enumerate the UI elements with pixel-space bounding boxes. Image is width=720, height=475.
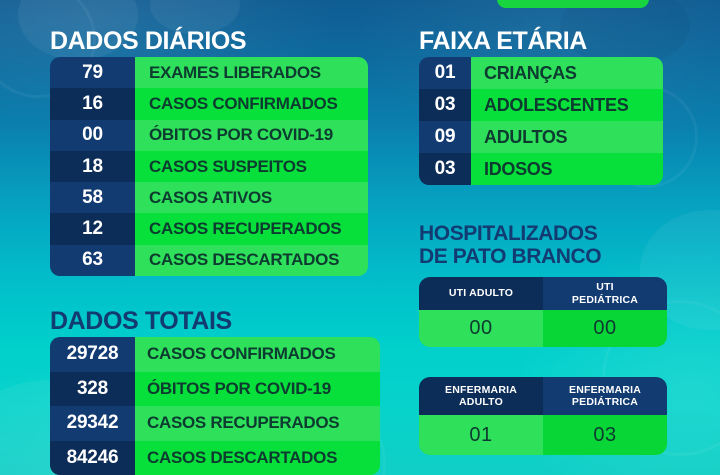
daily-label: ÓBITOS POR COVID-19 [135, 120, 368, 151]
hospital-cell-uti-adulto: UTI ADULTO 00 [419, 277, 543, 347]
total-value: 29342 [50, 406, 135, 441]
section-title-totals: DADOS TOTAIS [50, 309, 232, 335]
daily-label: CASOS SUSPEITOS [135, 151, 368, 182]
age-label: CRIANÇAS [471, 57, 663, 89]
table-row: 12 CASOS RECUPERADOS [50, 213, 368, 244]
table-row: 58 CASOS ATIVOS [50, 182, 368, 213]
daily-label: CASOS RECUPERADOS [135, 213, 368, 244]
table-row: 328 ÓBITOS POR COVID-19 [50, 372, 380, 407]
top-green-pill [497, 0, 649, 8]
total-label: CASOS CONFIRMADOS [135, 337, 380, 372]
table-row: 18 CASOS SUSPEITOS [50, 151, 368, 182]
table-row: 29342 CASOS RECUPERADOS [50, 406, 380, 441]
hospital-cell-header: ENFERMARIA PEDIÁTRICA [543, 377, 667, 415]
hospital-cell-uti-pediatrica: UTI PEDIÁTRICA 00 [543, 277, 667, 347]
total-label: CASOS RECUPERADOS [135, 406, 380, 441]
table-row: 16 CASOS CONFIRMADOS [50, 88, 368, 119]
hospital-cell-header: UTI PEDIÁTRICA [543, 277, 667, 310]
table-row: 01 CRIANÇAS [419, 57, 663, 89]
table-row: 03 ADOLESCENTES [419, 89, 663, 121]
age-range-table: 01 CRIANÇAS 03 ADOLESCENTES 09 ADULTOS 0… [419, 57, 663, 185]
daily-value: 18 [50, 151, 135, 182]
daily-label: CASOS CONFIRMADOS [135, 88, 368, 119]
table-row: 00 ÓBITOS POR COVID-19 [50, 120, 368, 151]
daily-value: 79 [50, 57, 135, 88]
daily-value: 12 [50, 213, 135, 244]
hospital-cell-header: UTI ADULTO [419, 277, 543, 310]
age-value: 03 [419, 89, 471, 121]
totals-data-table: 29728 CASOS CONFIRMADOS 328 ÓBITOS POR C… [50, 337, 380, 475]
daily-value: 63 [50, 245, 135, 276]
age-label: IDOSOS [471, 153, 663, 185]
daily-label: CASOS DESCARTADOS [135, 245, 368, 276]
section-title-daily: DADOS DIÁRIOS [50, 29, 246, 55]
table-row: 63 CASOS DESCARTADOS [50, 245, 368, 276]
hospital-cell-value: 03 [543, 415, 667, 455]
section-title-age-range: FAIXA ETÁRIA [419, 29, 587, 55]
daily-data-table: 79 EXAMES LIBERADOS 16 CASOS CONFIRMADOS… [50, 57, 368, 276]
hospital-cell-enfermaria-pediatrica: ENFERMARIA PEDIÁTRICA 03 [543, 377, 667, 455]
hospital-card-uti: UTI ADULTO 00 UTI PEDIÁTRICA 00 [419, 277, 667, 347]
table-row: 29728 CASOS CONFIRMADOS [50, 337, 380, 372]
daily-label: EXAMES LIBERADOS [135, 57, 368, 88]
age-label: ADULTOS [471, 121, 663, 153]
total-value: 29728 [50, 337, 135, 372]
age-value: 03 [419, 153, 471, 185]
table-row: 79 EXAMES LIBERADOS [50, 57, 368, 88]
age-value: 01 [419, 57, 471, 89]
daily-value: 58 [50, 182, 135, 213]
table-row: 03 IDOSOS [419, 153, 663, 185]
hospital-card-enfermaria: ENFERMARIA ADULTO 01 ENFERMARIA PEDIÁTRI… [419, 377, 667, 455]
daily-label: CASOS ATIVOS [135, 182, 368, 213]
hospital-cell-value: 01 [419, 415, 543, 455]
section-title-hospitalized: HOSPITALIZADOS DE PATO BRANCO [419, 223, 601, 268]
daily-value: 00 [50, 120, 135, 151]
age-label: ADOLESCENTES [471, 89, 663, 121]
hospital-cell-value: 00 [419, 310, 543, 347]
table-row: 09 ADULTOS [419, 121, 663, 153]
total-label: CASOS DESCARTADOS [135, 441, 380, 475]
hospital-cell-enfermaria-adulto: ENFERMARIA ADULTO 01 [419, 377, 543, 455]
daily-value: 16 [50, 88, 135, 119]
table-row: 84246 CASOS DESCARTADOS [50, 441, 380, 475]
total-label: ÓBITOS POR COVID-19 [135, 372, 380, 407]
total-value: 84246 [50, 441, 135, 475]
hospital-cell-header: ENFERMARIA ADULTO [419, 377, 543, 415]
age-value: 09 [419, 121, 471, 153]
hospital-cell-value: 00 [543, 310, 667, 347]
total-value: 328 [50, 372, 135, 407]
infographic-canvas: DADOS DIÁRIOS 79 EXAMES LIBERADOS 16 CAS… [0, 0, 720, 475]
